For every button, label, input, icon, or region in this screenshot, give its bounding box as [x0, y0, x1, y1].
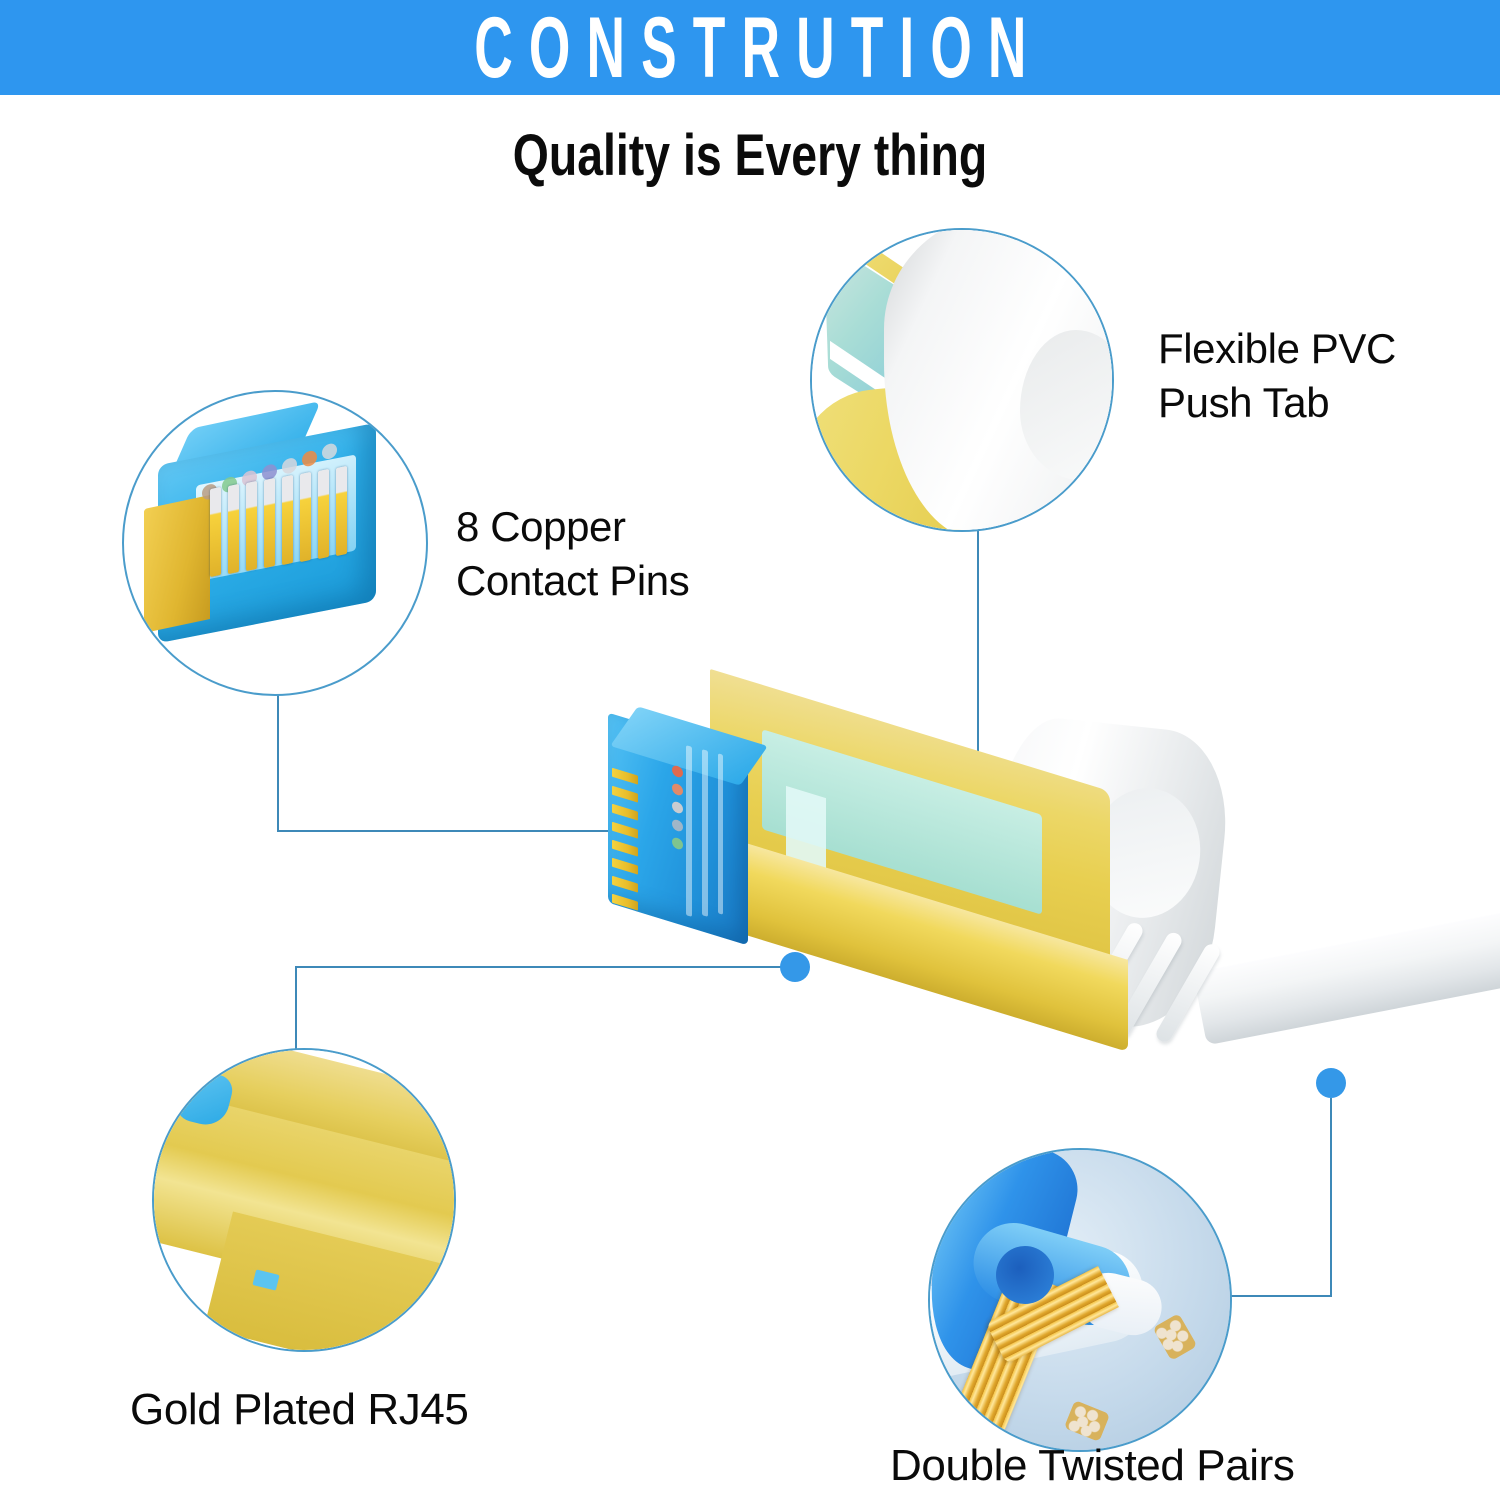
leader-line-twisted-pairs-horizontal [1222, 1295, 1332, 1297]
blue-jacket-opening [996, 1246, 1054, 1304]
twisted-pairs-illustration [930, 1150, 1230, 1450]
contact-pin [612, 822, 638, 839]
leader-line-copper-pins-vertical [277, 692, 279, 832]
plug-ridge [702, 749, 708, 917]
leader-line-twisted-pairs-vertical [1330, 1098, 1332, 1296]
pvc-illustration [812, 230, 1112, 530]
subtitle-text: Quality is Every thing [150, 122, 1350, 189]
page-title: CONSTRUTION [458, 5, 1042, 91]
contact-pin [612, 876, 638, 893]
plug-ridge [686, 745, 692, 917]
gold-plated-face [144, 495, 210, 633]
contact-pin [612, 786, 638, 803]
contact-pin [318, 469, 329, 559]
detail-circle-copper-contact-pins [122, 390, 428, 696]
callout-label-gold-plated-rj45: Gold Plated RJ45 [130, 1382, 468, 1438]
gold-plating-illustration [154, 1050, 454, 1350]
contact-pin [612, 858, 638, 875]
detail-circle-double-twisted-pairs [928, 1148, 1232, 1452]
contact-pin [228, 484, 239, 574]
callout-label-pvc-push-tab: Flexible PVC Push Tab [1158, 322, 1396, 430]
callout-label-double-twisted-pairs: Double Twisted Pairs [890, 1438, 1295, 1494]
contact-pin [612, 840, 638, 857]
detail-circle-pvc-push-tab [810, 228, 1114, 532]
infographic-page: CONSTRUTION Quality is Every thing [0, 0, 1500, 1500]
contact-pin [612, 894, 638, 911]
contact-pin [336, 466, 347, 556]
flat-cable-jacket [1193, 910, 1500, 1046]
plug-ridge [718, 753, 723, 915]
contact-pin [210, 487, 221, 577]
contact-pin [612, 804, 638, 821]
leader-line-gold-plated-vertical [295, 966, 297, 1050]
contact-pin [246, 481, 257, 571]
teal-window-detail [786, 786, 826, 868]
header-banner: CONSTRUTION [0, 0, 1500, 95]
rj45-plug-illustration [124, 392, 426, 694]
contact-pin [264, 478, 275, 568]
contact-pin [282, 475, 293, 565]
detail-circle-gold-plated-rj45 [152, 1048, 456, 1352]
contact-pin [300, 472, 311, 562]
copper-strand-cross-section [1064, 1400, 1110, 1442]
callout-label-copper-contact-pins: 8 Copper Contact Pins [456, 500, 689, 608]
product-connector-image [590, 700, 1500, 1120]
copper-strand-cross-section [1153, 1313, 1198, 1361]
wire-color-chip [282, 457, 297, 475]
copper-contact-pin-row [612, 766, 640, 925]
